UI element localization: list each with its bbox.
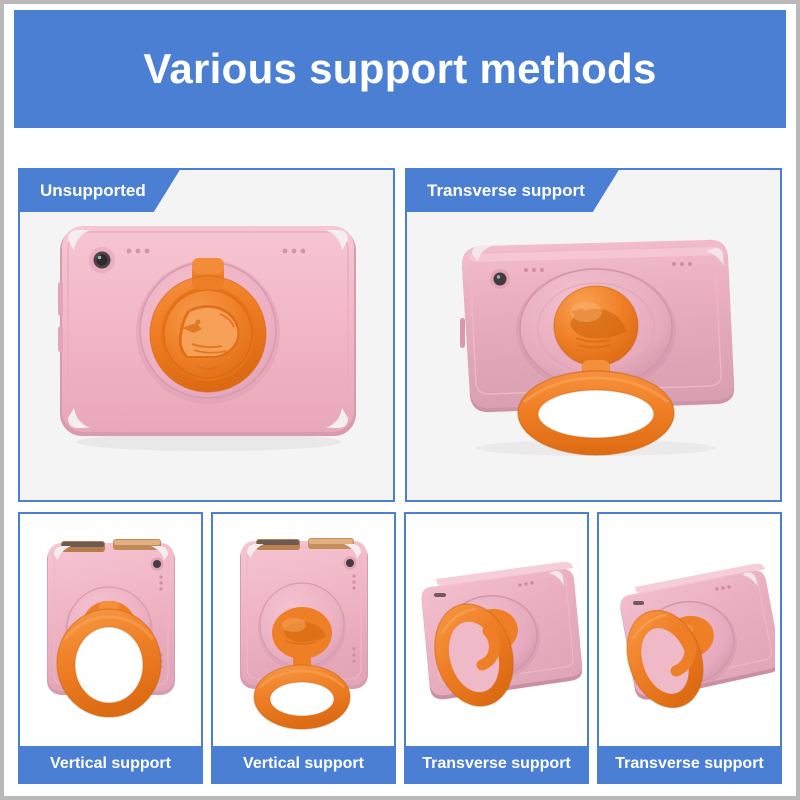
panel-label-vertical-support-2: Vertical support bbox=[213, 746, 394, 782]
product-image-vertical-2 bbox=[213, 514, 394, 746]
panel-vertical-support-2[interactable]: Vertical support bbox=[211, 512, 396, 784]
panel-label-transverse-support-2: Transverse support bbox=[599, 746, 780, 782]
panel-transverse-support-2[interactable]: Transverse support bbox=[597, 512, 782, 784]
tablet-landscape-ring-kickstand-icon bbox=[424, 208, 764, 463]
tablet-angled-ring-handle-right-icon bbox=[605, 527, 775, 733]
top-panel-row: Unsupported bbox=[18, 168, 782, 502]
panel-label-transverse-support-1: Transverse support bbox=[406, 746, 587, 782]
tablet-portrait-ring-stand-icon bbox=[224, 527, 384, 733]
product-image-transverse-2 bbox=[599, 514, 780, 746]
product-image-vertical-1 bbox=[20, 514, 201, 746]
panel-label-vertical-support-1: Vertical support bbox=[20, 746, 201, 782]
tablet-portrait-ring-handle-front-icon bbox=[31, 527, 191, 733]
panel-transverse-support-1[interactable]: Transverse support bbox=[404, 512, 589, 784]
tablet-rear-ring-folded-flat-icon bbox=[42, 210, 372, 460]
product-image-transverse-1 bbox=[406, 514, 587, 746]
panel-vertical-support-1[interactable]: Vertical support bbox=[18, 512, 203, 784]
bottom-panel-row: Vertical support bbox=[18, 512, 782, 784]
panel-label-transverse-support-top: Transverse support bbox=[407, 170, 619, 212]
panel-unsupported[interactable]: Unsupported bbox=[18, 168, 395, 502]
header-banner: Various support methods bbox=[14, 10, 786, 128]
page-title: Various support methods bbox=[143, 48, 656, 90]
product-image-transverse-top bbox=[407, 170, 780, 500]
panel-label-unsupported: Unsupported bbox=[20, 170, 180, 212]
tablet-angled-ring-handle-left-icon bbox=[412, 527, 582, 733]
infographic-page: Various support methods bbox=[0, 0, 800, 800]
product-image-unsupported bbox=[20, 170, 393, 500]
panel-transverse-support-top[interactable]: Transverse support bbox=[405, 168, 782, 502]
